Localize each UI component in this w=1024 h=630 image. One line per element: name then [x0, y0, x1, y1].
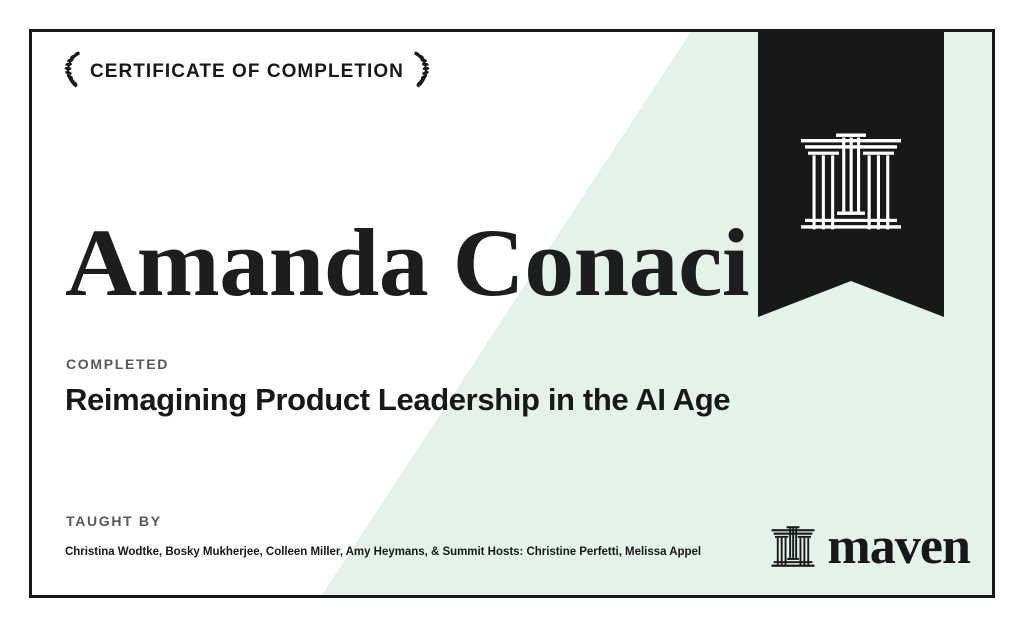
certificate-card: CERTIFICATE OF COMPLETION	[29, 29, 995, 598]
course-title: Reimagining Product Leadership in the AI…	[65, 382, 730, 419]
certificate-content: CERTIFICATE OF COMPLETION	[32, 32, 992, 595]
laurel-branch-right-icon	[411, 51, 431, 91]
maven-pillars-logo-icon	[771, 526, 815, 568]
taught-by-label: TAUGHT BY	[66, 514, 162, 528]
maven-wordmark: maven	[827, 526, 970, 569]
recipient-name: Amanda Conaci	[65, 213, 749, 314]
instructors-list: Christina Wodtke, Bosky Mukherjee, Colle…	[65, 545, 701, 560]
certificate-eyebrow-title: CERTIFICATE OF COMPLETION	[90, 62, 404, 81]
laurel-branch-left-icon	[63, 51, 83, 91]
completed-label: COMPLETED	[66, 357, 169, 371]
certificate-header: CERTIFICATE OF COMPLETION	[63, 50, 431, 92]
certificate-page: CERTIFICATE OF COMPLETION	[0, 0, 1024, 630]
maven-brand-lockup: maven	[771, 523, 970, 571]
